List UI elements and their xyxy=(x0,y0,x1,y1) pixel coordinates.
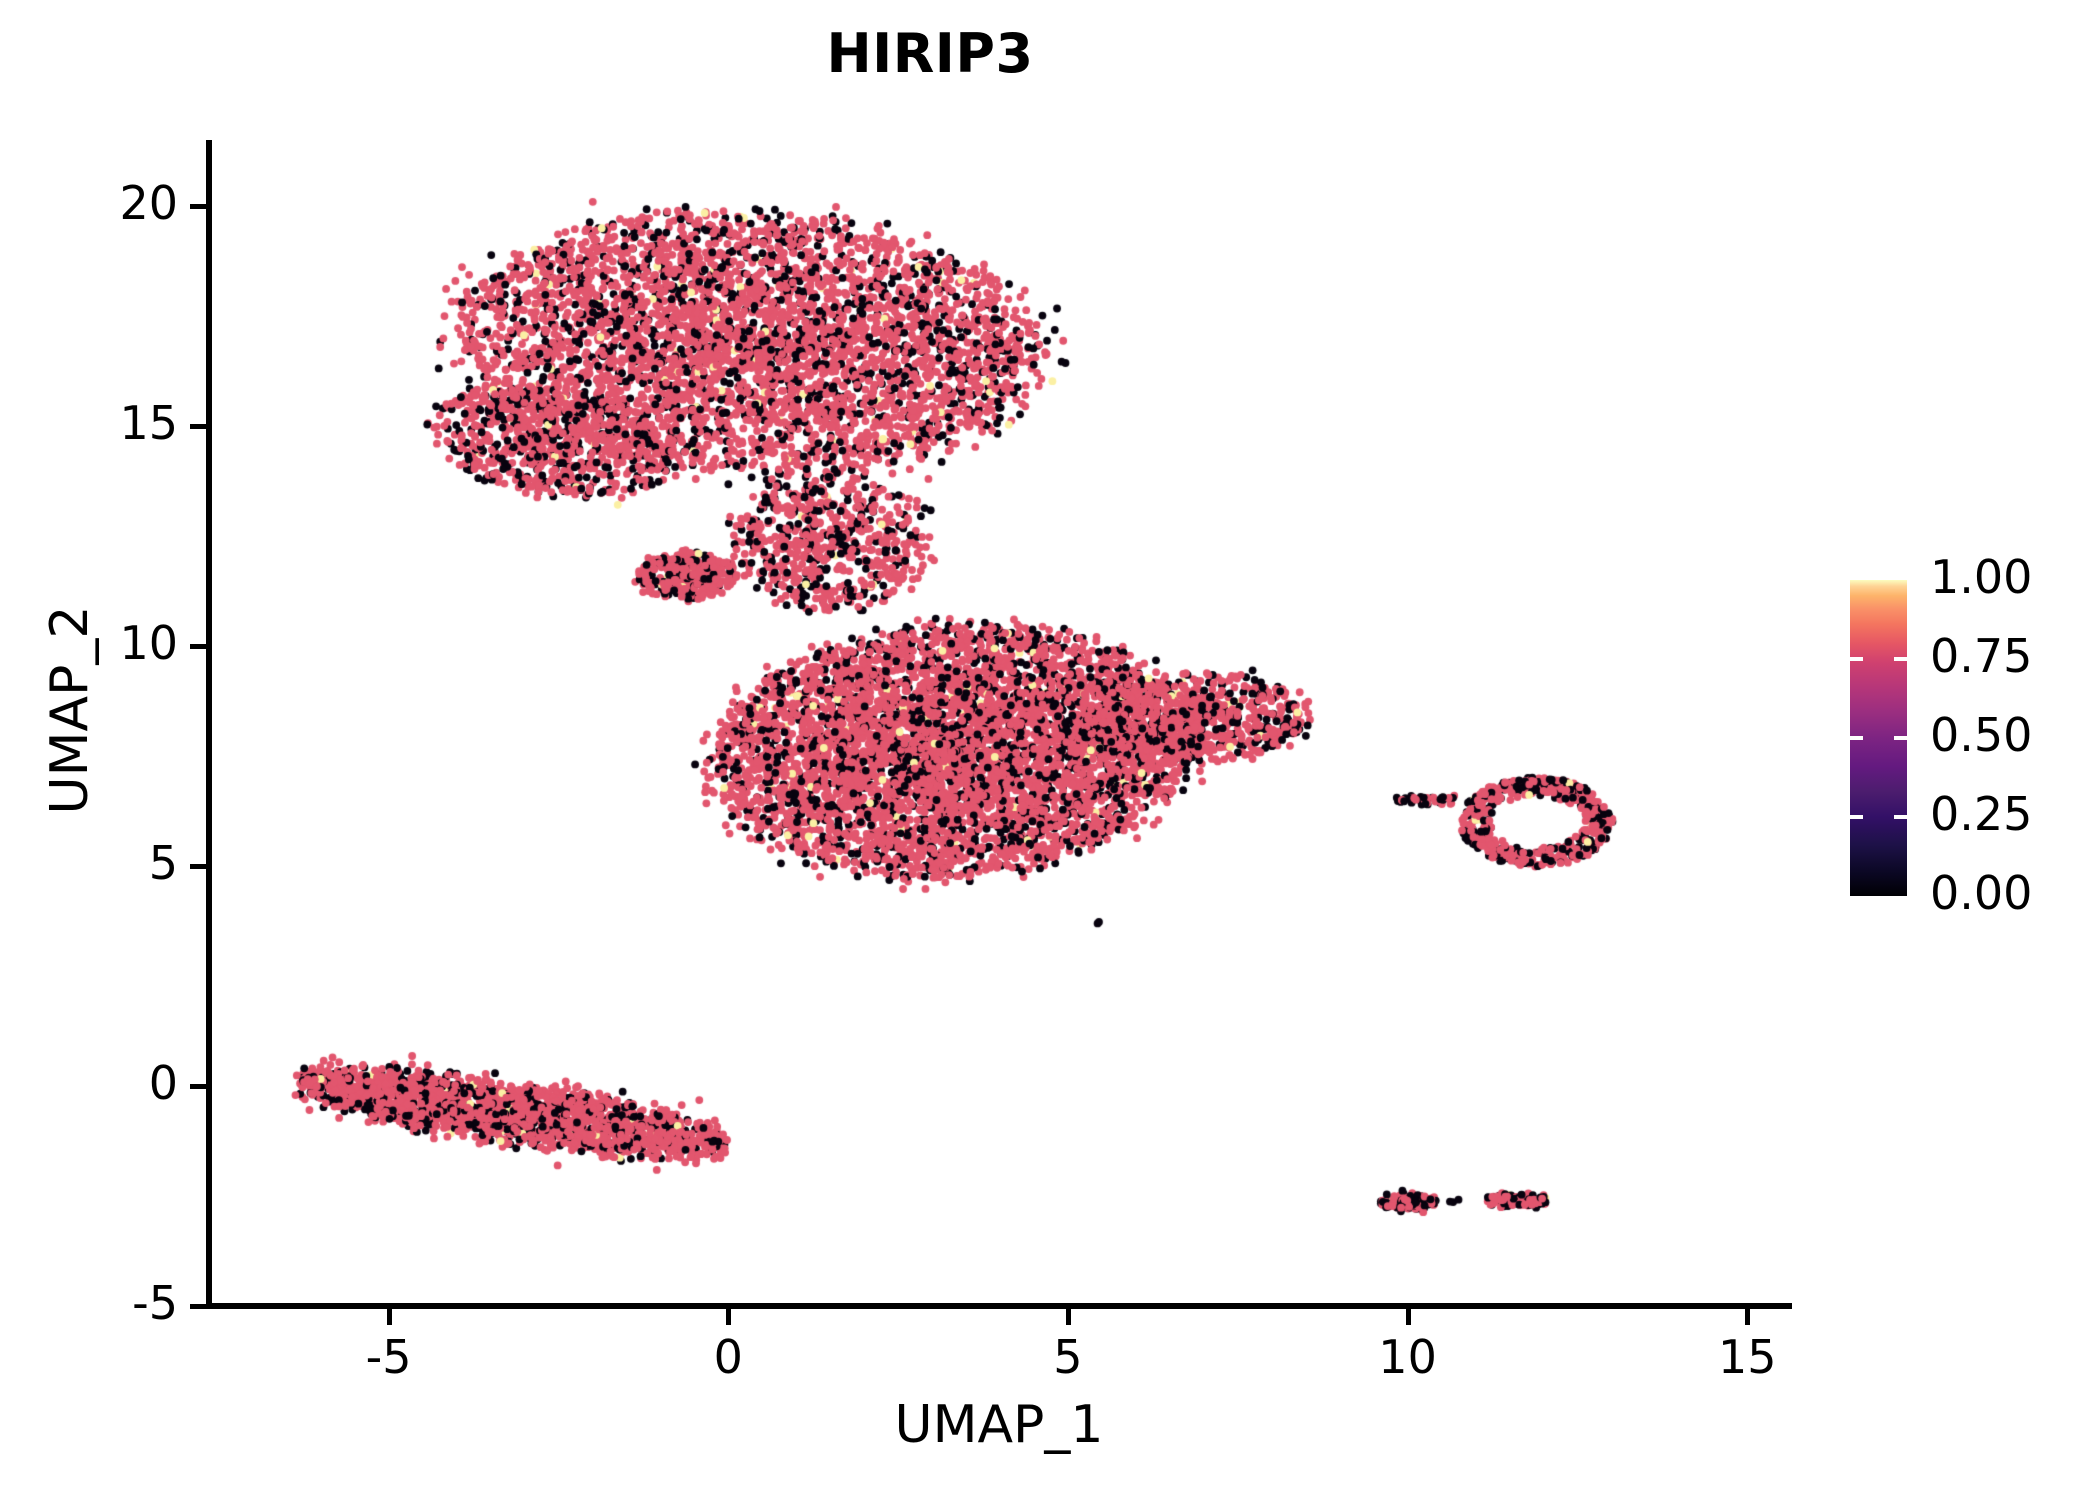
y-axis-spine xyxy=(206,140,212,1309)
page-title: HIRIP3 xyxy=(0,22,1860,85)
y-tick--5 xyxy=(190,1304,206,1309)
x-axis-spine xyxy=(206,1303,1792,1309)
scatter-plot-canvas xyxy=(212,140,1788,1306)
x-ticklabel-5: 5 xyxy=(978,1330,1158,1384)
y-tick-5 xyxy=(190,864,206,869)
colorbar-ticklabel-0.00: 0.00 xyxy=(1930,866,2032,920)
y-ticklabel--5: -5 xyxy=(8,1276,178,1330)
colorbar-tick-0.75 xyxy=(1850,657,1863,661)
x-tick--5 xyxy=(387,1309,392,1325)
x-tick-5 xyxy=(1066,1309,1071,1325)
x-ticklabel--5: -5 xyxy=(299,1330,479,1384)
colorbar-ticklabel-0.50: 0.50 xyxy=(1930,708,2032,762)
x-ticklabel-15: 15 xyxy=(1657,1330,1837,1384)
x-axis-label: UMAP_1 xyxy=(206,1395,1792,1455)
umap-figure: HIRIP3 -505101520 -5051015 UMAP_1 UMAP_2… xyxy=(0,0,2100,1500)
x-tick-15 xyxy=(1745,1309,1750,1325)
x-tick-0 xyxy=(726,1309,731,1325)
x-ticklabel-10: 10 xyxy=(1318,1330,1498,1384)
x-ticklabel-0: 0 xyxy=(638,1330,818,1384)
colorbar: 1.000.750.500.250.00 xyxy=(1850,580,2100,900)
colorbar-tick-0.75 xyxy=(1894,657,1907,661)
colorbar-tick-0.25 xyxy=(1850,815,1863,819)
x-tick-10 xyxy=(1406,1309,1411,1325)
y-tick-20 xyxy=(190,204,206,209)
colorbar-ticklabel-0.75: 0.75 xyxy=(1930,629,2032,683)
y-tick-10 xyxy=(190,644,206,649)
colorbar-ticklabel-1.00: 1.00 xyxy=(1930,550,2032,604)
y-axis-label: UMAP_2 xyxy=(40,210,100,1210)
y-tick-15 xyxy=(190,424,206,429)
colorbar-tick-0.50 xyxy=(1894,736,1907,740)
colorbar-tick-0.50 xyxy=(1850,736,1863,740)
colorbar-ticklabel-0.25: 0.25 xyxy=(1930,787,2032,841)
colorbar-tick-0.25 xyxy=(1894,815,1907,819)
y-tick-0 xyxy=(190,1084,206,1089)
